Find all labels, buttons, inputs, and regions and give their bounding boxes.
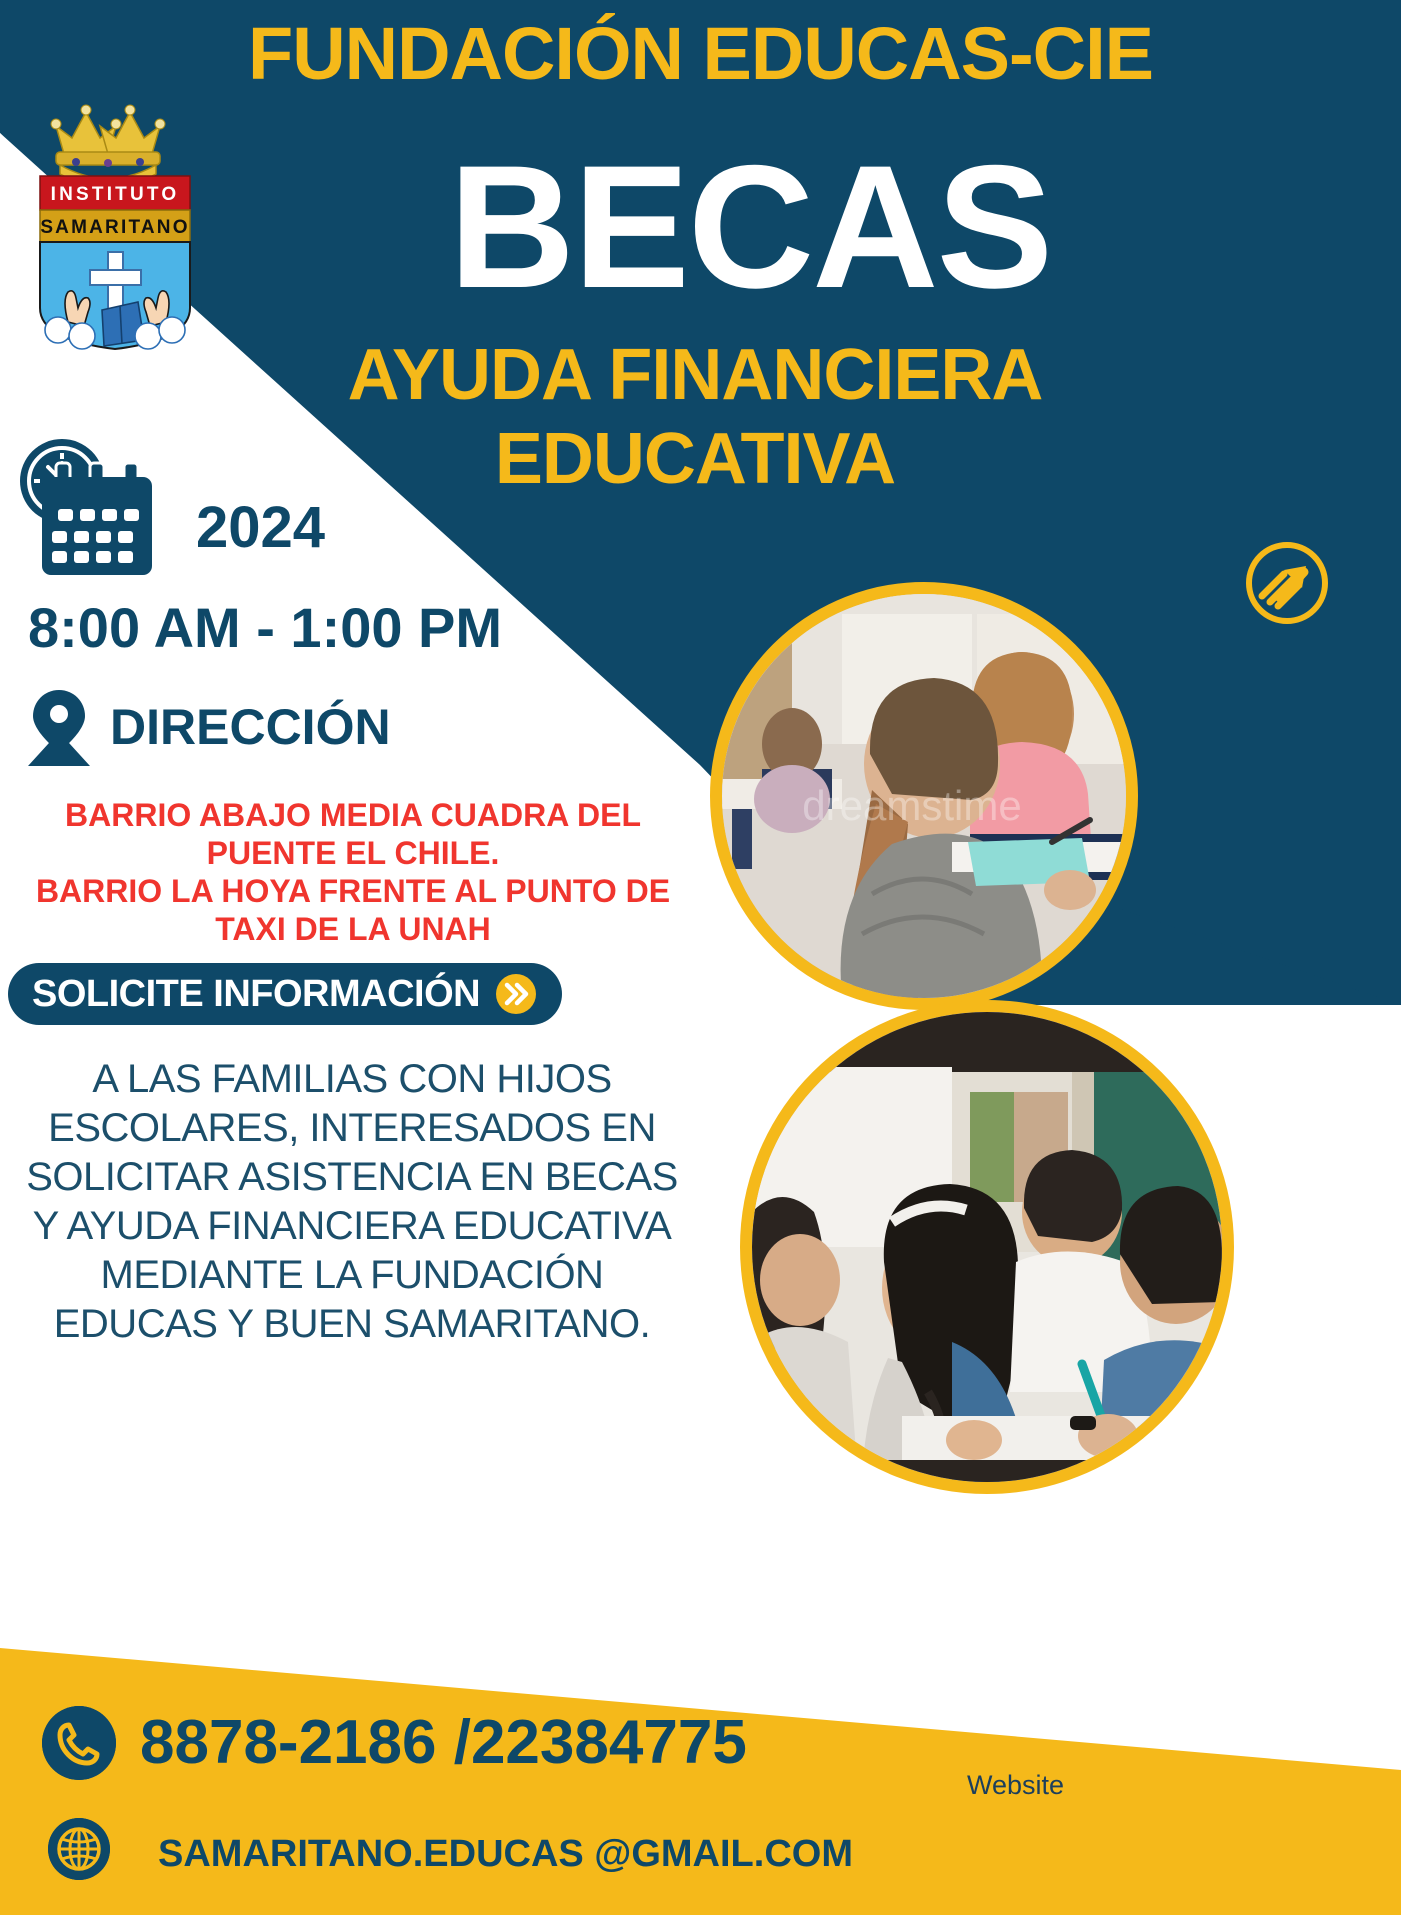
crown-icon xyxy=(51,105,165,187)
poster-canvas: FUNDACIÓN EDUCAS-CIE INSTITUTO xyxy=(0,0,1401,1915)
description-line: SOLICITAR ASISTENCIA EN BECAS xyxy=(2,1153,702,1202)
date-time-icons xyxy=(14,437,204,582)
address-line: TAXI DE LA UNAH xyxy=(8,910,698,948)
headline-becas: BECAS xyxy=(370,140,1130,315)
crest-bottom-band-label: SAMARITANO xyxy=(40,217,189,238)
calendar-icon xyxy=(42,463,152,575)
address-line: BARRIO ABAJO MEDIA CUADRA DEL xyxy=(8,796,698,834)
classroom-photo-bottom xyxy=(740,1000,1234,1494)
event-year: 2024 xyxy=(196,499,325,557)
solicite-informacion-banner[interactable]: SOLICITE INFORMACIÓN xyxy=(8,963,562,1025)
classroom-photo-top: dreamstime xyxy=(710,582,1138,1010)
crest-top-band-label: INSTITUTO xyxy=(51,184,180,205)
address-line: PUENTE EL CHILE. xyxy=(8,834,698,872)
description-line: A LAS FAMILIAS CON HIJOS xyxy=(2,1055,702,1104)
stock-watermark: dreamstime xyxy=(802,782,1021,829)
description-line: EDUCAS Y BUEN SAMARITANO. xyxy=(2,1300,702,1349)
description-line: Y AYUDA FINANCIERA EDUCATIVA xyxy=(2,1202,702,1251)
solicite-informacion-label: SOLICITE INFORMACIÓN xyxy=(32,973,480,1015)
description-block: A LAS FAMILIAS CON HIJOS ESCOLARES, INTE… xyxy=(2,1055,702,1349)
email-address[interactable]: SAMARITANO.EDUCAS @GMAIL.COM xyxy=(158,1833,853,1875)
address-block: BARRIO ABAJO MEDIA CUADRA DEL PUENTE EL … xyxy=(8,796,698,948)
page-title: FUNDACIÓN EDUCAS-CIE xyxy=(0,14,1401,94)
subhead-line-1: AYUDA FINANCIERA xyxy=(250,336,1140,414)
subhead-line-2: EDUCATIVA xyxy=(250,420,1140,498)
address-label: DIRECCIÓN xyxy=(110,700,391,754)
description-line: MEDIANTE LA FUNDACIÓN xyxy=(2,1251,702,1300)
website-label: Website xyxy=(967,1770,1064,1800)
double-chevron-icon xyxy=(496,974,536,1014)
globe-icon[interactable] xyxy=(48,1818,110,1880)
event-hours: 8:00 AM - 1:00 PM xyxy=(28,600,502,656)
instituto-samaritano-crest-logo: INSTITUTO SAMARITANO xyxy=(16,96,221,351)
description-line: ESCOLARES, INTERESADOS EN xyxy=(2,1104,702,1153)
phone-icon[interactable] xyxy=(42,1706,116,1780)
address-line: BARRIO LA HOYA FRENTE AL PUNTO DE xyxy=(8,872,698,910)
phone-number[interactable]: 8878-2186 /22384775 xyxy=(140,1710,747,1776)
map-pin-icon xyxy=(24,688,94,768)
growth-arrow-icon xyxy=(1244,540,1330,626)
